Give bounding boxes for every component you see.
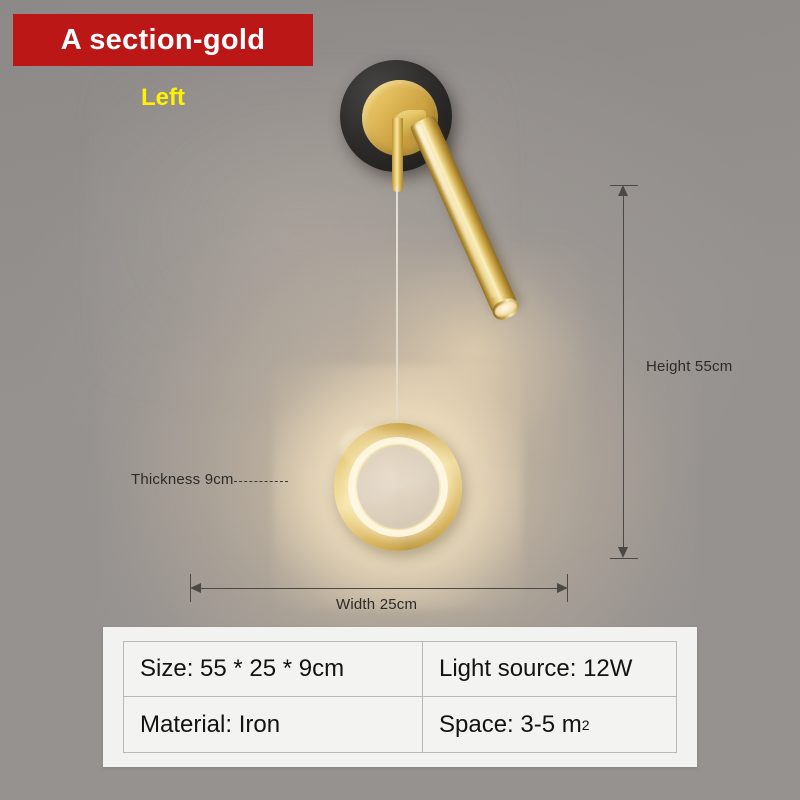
spec-panel: Size: 55 * 25 * 9cm Light source: 12W Ma…: [103, 627, 697, 767]
spec-space-text: Space: 3-5 m: [439, 711, 582, 739]
variant-subtitle: Left: [13, 84, 313, 112]
variant-banner-title: A section-gold: [61, 24, 266, 57]
spec-material: Material: Iron: [124, 697, 423, 752]
width-label: Width 25cm: [336, 596, 417, 613]
stem-vertical: [392, 118, 403, 192]
spec-space: Space: 3-5 m2: [423, 697, 676, 752]
ring-gloss-highlight: [340, 427, 396, 467]
height-arrow-up-icon: [618, 185, 628, 196]
width-line: [193, 588, 565, 589]
height-arrow-down-icon: [618, 547, 628, 558]
spec-light-source: Light source: 12W: [423, 642, 676, 697]
spec-space-superscript: 2: [582, 717, 590, 733]
thickness-label: Thickness 9cm: [131, 471, 234, 488]
spec-table: Size: 55 * 25 * 9cm Light source: 12W Ma…: [123, 641, 677, 753]
width-arrow-right-icon: [557, 583, 568, 593]
height-label: Height 55cm: [646, 358, 732, 375]
height-tick-bottom: [610, 558, 638, 559]
ring-pendant: [334, 423, 462, 551]
product-image: Height 55cm Width 25cm Thickness 9cm A s…: [0, 0, 800, 800]
variant-banner: A section-gold: [13, 14, 313, 66]
height-line: [623, 188, 624, 556]
width-arrow-left-icon: [190, 583, 201, 593]
suspension-cable: [396, 186, 398, 426]
spec-size: Size: 55 * 25 * 9cm: [124, 642, 423, 697]
thickness-dash-line: [234, 481, 288, 482]
